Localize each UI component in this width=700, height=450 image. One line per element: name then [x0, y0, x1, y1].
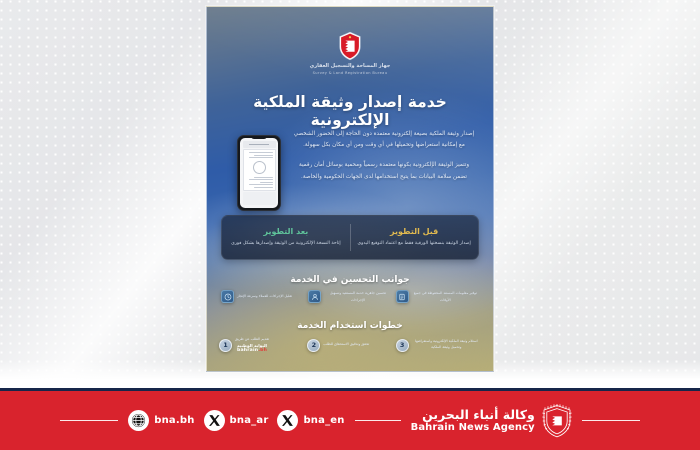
bna-name-en: Bahrain News Agency — [411, 422, 535, 433]
social-label-website: bna.bh — [154, 415, 194, 426]
intro-paragraph-2: وتتميز الوثيقة الإلكترونية بكونها معتمدة… — [293, 160, 475, 182]
step-item-3: 3 استلام وثيقة الملكية الإلكترونية واستع… — [396, 337, 481, 353]
comparison-panel: قبل التطوير إصدار الوثيقة بنسختها الورقي… — [221, 215, 479, 260]
social-link-x-ar[interactable]: bna_ar — [204, 410, 269, 431]
comparison-before-desc: إصدار الوثيقة بنسختها الورقية فقط مع اعت… — [358, 240, 471, 248]
improvement-text-2: تحسين جاهزية خدمة المستفيد وتسهيل الإجرا… — [324, 290, 391, 302]
organization-name-en: Survey & Land Registration Bureau — [313, 71, 388, 75]
bna-shield-icon — [542, 404, 572, 438]
portal-name-en: bahrain.bh — [235, 348, 269, 353]
bna-brand: وكالة أنباء البحرين Bahrain News Agency — [411, 404, 572, 438]
document-seal-icon — [253, 161, 266, 174]
step-text-2: تحقق وتدقيق الاستحقاق للطلب — [323, 342, 369, 348]
comparison-divider — [350, 224, 351, 251]
speed-clock-icon — [221, 290, 234, 303]
portal-en-text: bahrain — [237, 348, 258, 353]
improvements-title: جوانب التحسين في الخدمة — [207, 275, 493, 285]
step-text-1: تقديم الطلب عن طريق — [235, 337, 269, 343]
improvement-text-1: تقليل الإجراءات للعملاء وسرعة الإنجاز — [237, 293, 292, 299]
secure-document-icon — [396, 290, 409, 303]
bahrain-crest-icon — [337, 31, 363, 61]
social-label-x-en: bna_en — [303, 415, 344, 426]
step-number-2: 2 — [307, 339, 320, 352]
step-body-3: استلام وثيقة الملكية الإلكترونية واستعرا… — [412, 339, 481, 351]
improvement-item-3: توفير معلومات المستند المحفوظة في جميع ا… — [396, 290, 479, 303]
step-body-1: تقديم الطلب عن طريق البوابة الوطنية bahr… — [235, 337, 269, 353]
document-header — [243, 141, 276, 148]
service-user-icon — [308, 290, 321, 303]
improvement-item-1: تقليل الإجراءات للعملاء وسرعة الإنجاز — [221, 290, 304, 303]
x-twitter-icon — [204, 410, 225, 431]
bna-name-ar: وكالة أنباء البحرين — [411, 408, 535, 422]
social-links: bna.bh bna_ar bna_en — [128, 410, 344, 431]
improvement-item-2: تحسين جاهزية خدمة المستفيد وتسهيل الإجرا… — [308, 290, 391, 303]
portal-en-accent: .bh — [258, 348, 267, 353]
comparison-after-desc: إتاحة النسخة الإلكترونية من الوثيقة وإصد… — [231, 240, 341, 248]
social-link-website[interactable]: bna.bh — [128, 410, 194, 431]
comparison-after: بعد التطوير إتاحة النسخة الإلكترونية من … — [222, 216, 350, 259]
comparison-after-title: بعد التطوير — [263, 227, 308, 236]
organization-logo: جهاز المساحة والتسجيل العقاري Survey & L… — [207, 31, 493, 75]
document-footer — [243, 192, 276, 205]
infographic-poster: جهاز المساحة والتسجيل العقاري Survey & L… — [206, 6, 494, 372]
step-text-3: استلام وثيقة الملكية الإلكترونية واستعرا… — [412, 339, 481, 351]
phone-mockup — [237, 135, 281, 211]
footer-rule-left — [60, 420, 118, 422]
national-portal-logo: البوابة الوطنية bahrain.bh — [235, 343, 269, 353]
bna-footer-bar: bna.bh bna_ar bna_en وكالة أنباء البحرين… — [0, 388, 700, 450]
steps-row: 1 تقديم الطلب عن طريق البوابة الوطنية ba… — [219, 337, 481, 353]
social-label-x-ar: bna_ar — [230, 415, 269, 426]
step-item-2: 2 تحقق وتدقيق الاستحقاق للطلب — [307, 337, 392, 353]
improvements-row: تقليل الإجراءات للعملاء وسرعة الإنجاز تح… — [221, 290, 479, 303]
step-number-1: 1 — [219, 339, 232, 352]
intro-text-block: إصدار وثيقة الملكية بصيغة إلكترونية معتم… — [293, 129, 475, 183]
comparison-before-title: قبل التطوير — [390, 227, 438, 236]
phone-screen — [240, 138, 278, 208]
intro-paragraph-1: إصدار وثيقة الملكية بصيغة إلكترونية معتم… — [293, 129, 475, 151]
social-link-x-en[interactable]: bna_en — [277, 410, 344, 431]
step-number-3: 3 — [396, 339, 409, 352]
phone-notch — [251, 136, 267, 139]
comparison-before: قبل التطوير إصدار الوثيقة بنسختها الورقي… — [350, 216, 478, 259]
steps-title: خطوات استخدام الخدمة — [207, 321, 493, 331]
globe-icon — [128, 410, 149, 431]
poster-headline: خدمة إصدار وثيقة الملكية الإلكترونية — [217, 93, 483, 129]
organization-name-ar: جهاز المساحة والتسجيل العقاري — [310, 63, 391, 69]
footer-rule-middle — [355, 420, 401, 422]
bna-brand-text: وكالة أنباء البحرين Bahrain News Agency — [411, 408, 535, 433]
footer-rule-right — [582, 420, 640, 422]
document-body — [243, 149, 276, 190]
x-twitter-icon — [277, 410, 298, 431]
step-body-2: تحقق وتدقيق الاستحقاق للطلب — [323, 342, 369, 348]
improvement-text-3: توفير معلومات المستند المحفوظة في جميع ا… — [412, 290, 479, 302]
step-item-1: 1 تقديم الطلب عن طريق البوابة الوطنية ba… — [219, 337, 304, 353]
